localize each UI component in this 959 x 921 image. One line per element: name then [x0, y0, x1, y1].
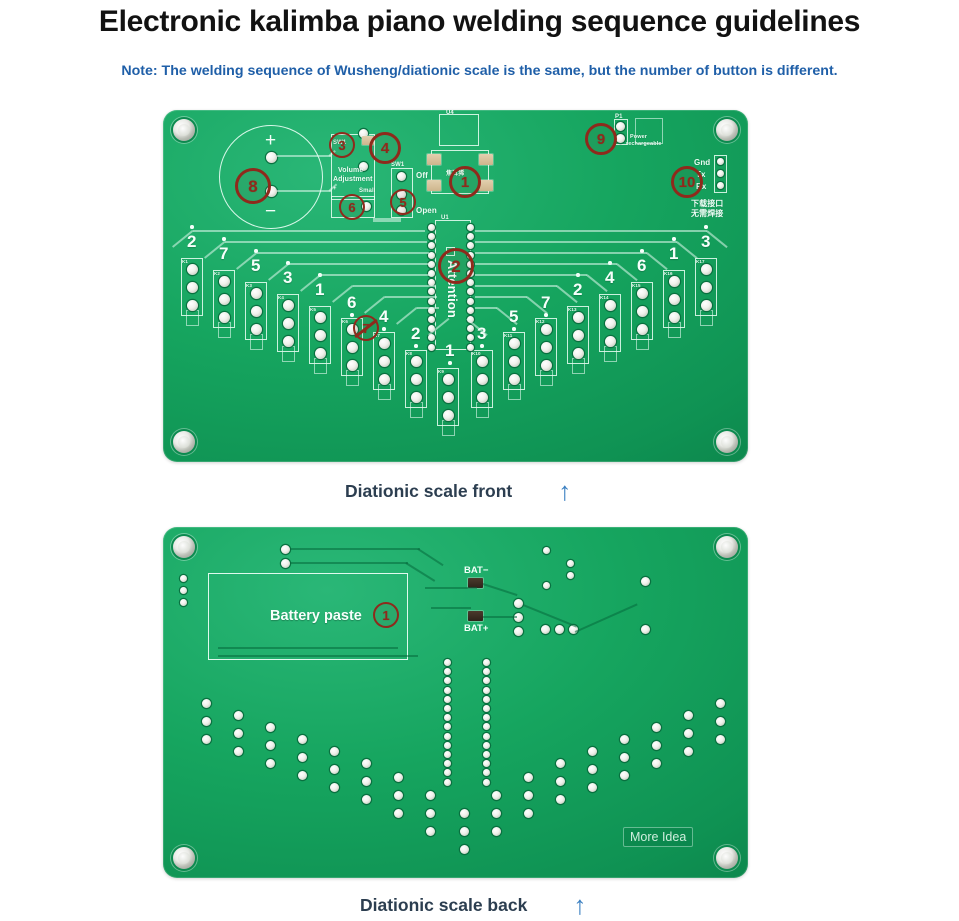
marker-7: 7 [353, 315, 379, 341]
key-pad-ref: K10 [472, 351, 481, 356]
back-mcu-pin-pad [444, 751, 451, 758]
signal-trace [475, 307, 497, 309]
signal-trace-jog [396, 307, 417, 325]
key-number-label: 4 [379, 308, 388, 325]
key-pad-hole [187, 300, 198, 311]
back-key-pad-hole [426, 791, 435, 800]
signal-trace [257, 252, 429, 254]
back-key-pad-hole [492, 791, 501, 800]
key-pad-hole [315, 348, 326, 359]
speaker-plus-sign: + [265, 131, 276, 150]
volume-small-label: Small [359, 188, 376, 194]
switch-open-label: Open [416, 206, 437, 215]
page-note: Note: The welding sequence of Wusheng/di… [0, 60, 959, 82]
signal-trace-jog [616, 263, 637, 281]
key-number-label: 3 [701, 233, 710, 250]
key-pad-tab [250, 334, 263, 350]
trace-speaker-neg [277, 190, 331, 192]
back-key-pad-hole [266, 759, 275, 768]
key-pad-ref: K12 [536, 319, 545, 324]
front-board-caption: Diationic scale front ↑ [345, 478, 571, 504]
back-mcu-pin-pad [483, 668, 490, 675]
key-pad-ref: K16 [664, 271, 673, 276]
key-pad-ref: K1 [182, 259, 188, 264]
back-pad-mid-3 [514, 627, 523, 636]
key-pad-hole [219, 294, 230, 305]
back-key-pad-hole [684, 747, 693, 756]
mounting-hole-top-right [716, 119, 738, 141]
key-pad-tab [572, 358, 585, 374]
key-pad-tab [410, 402, 423, 418]
back-key-pad-hole [620, 753, 629, 762]
mcu-pin-pad [467, 334, 474, 341]
back-key-pad-hole [460, 845, 469, 854]
mounting-hole-bottom-left [173, 431, 195, 453]
pcb-front-board: + − SW1 Volume Adjustment + Small SW1 Of… [163, 110, 748, 462]
uart-gnd-label: Gnd [694, 158, 710, 167]
back-mcu-pin-pad [444, 723, 451, 730]
key-octave-dot [382, 327, 386, 331]
key-pad-hole [411, 374, 422, 385]
bat-plus-label: BAT+ [464, 623, 488, 634]
back-key-pad-hole [588, 765, 597, 774]
back-mounting-hole-bottom-right [716, 847, 738, 869]
key-pad-ref: K17 [696, 259, 705, 264]
power-header-pad-2 [616, 134, 625, 143]
mcu-pin-pad [428, 298, 435, 305]
bat-minus-label: BAT− [464, 565, 488, 576]
back-mcu-pin-pad [444, 696, 451, 703]
mcu-pin-pad [467, 298, 474, 305]
key-number-label: 4 [605, 269, 614, 286]
back-mcu-pin-pad [444, 779, 451, 786]
back-key-pad-hole [330, 783, 339, 792]
back-key-pad-hole [426, 827, 435, 836]
key-number-label: 1 [445, 342, 454, 359]
back-key-pad-hole [588, 747, 597, 756]
key-pad-hole [283, 336, 294, 347]
back-pad-mid-7 [567, 572, 574, 579]
mcu-pin-pad [428, 224, 435, 231]
back-key-pad-hole [298, 771, 307, 780]
mcu-pin-pad [428, 288, 435, 295]
power-label-line2: rechargeable [626, 141, 661, 147]
back-pad-mid-4 [543, 547, 550, 554]
key-pad-tab [604, 346, 617, 362]
amp-pad-tl [427, 154, 441, 165]
signal-trace [321, 274, 433, 276]
key-pad-hole [541, 324, 552, 335]
power-label-line1: Power [630, 134, 647, 140]
key-pad-hole [283, 318, 294, 329]
back-mcu-pin-pad [483, 733, 490, 740]
marker-2: 2 [438, 248, 474, 284]
back-key-pad-hole [202, 717, 211, 726]
key-number-label: 2 [187, 233, 196, 250]
back-trace-long-2 [218, 655, 418, 657]
key-pad-hole [509, 338, 520, 349]
signal-trace [475, 241, 677, 243]
uart-pad-tx [717, 170, 724, 177]
key-number-label: 1 [315, 281, 324, 298]
key-pad-hole [411, 356, 422, 367]
key-octave-dot [480, 344, 484, 348]
key-pad-hole [251, 288, 262, 299]
key-pad-hole [315, 330, 326, 341]
key-octave-dot [350, 313, 354, 317]
back-pad-mid-5 [543, 582, 550, 589]
key-number-label: 6 [637, 257, 646, 274]
key-pad-ref: K6 [342, 319, 348, 324]
back-trace-bat-5 [523, 604, 577, 627]
back-key-pad-hole [266, 723, 275, 732]
back-key-pad-hole [394, 791, 403, 800]
back-key-pad-hole [266, 741, 275, 750]
key-pad-hole [573, 312, 584, 323]
marker-1: 1 [449, 166, 481, 198]
back-key-pad-hole [234, 747, 243, 756]
chip-top-outline [439, 114, 479, 146]
signal-trace [475, 296, 527, 298]
key-pad-hole [443, 392, 454, 403]
key-pad-tab [346, 370, 359, 386]
back-pad-top-1 [281, 545, 290, 554]
back-key-pad-hole [716, 699, 725, 708]
key-pad-tab [218, 322, 231, 338]
back-key-pad-hole [330, 747, 339, 756]
key-pad-hole [701, 300, 712, 311]
key-pad-tab [186, 310, 199, 326]
back-pad-mid-1 [514, 599, 523, 608]
back-pad-top-2 [281, 559, 290, 568]
marker-3: 3 [329, 132, 355, 158]
key-pad-hole [219, 276, 230, 287]
back-pad-mid-8 [541, 625, 550, 634]
key-octave-dot [190, 225, 194, 229]
back-key-pad-hole [298, 735, 307, 744]
back-mcu-pin-pad [444, 733, 451, 740]
key-pad-tab [442, 420, 455, 436]
key-pad-hole [283, 300, 294, 311]
marker-5: 5 [390, 189, 416, 215]
key-pad-hole [669, 312, 680, 323]
power-header-ref: P1 [615, 114, 623, 120]
amp-pad-bl [427, 180, 441, 191]
back-mcu-pin-pad [483, 751, 490, 758]
key-pad-hole [187, 264, 198, 275]
back-pad-right-2 [641, 625, 650, 634]
key-pad-hole [541, 360, 552, 371]
signal-trace [475, 285, 557, 287]
back-key-pad-hole [556, 795, 565, 804]
key-pad-tab [378, 384, 391, 400]
key-number-label: 5 [251, 257, 260, 274]
mcu-pin-pad [467, 224, 474, 231]
key-pad-hole [701, 282, 712, 293]
mcu-pin-pad [467, 233, 474, 240]
key-number-label: 6 [347, 294, 356, 311]
key-pad-hole [637, 324, 648, 335]
back-key-pad-hole [652, 759, 661, 768]
back-key-pad-hole [362, 795, 371, 804]
back-mcu-pin-pad [483, 760, 490, 767]
back-trace-bat-6 [575, 603, 638, 632]
marker-8: 8 [235, 168, 271, 204]
signal-trace [353, 285, 435, 287]
uart-pad-rx [717, 182, 724, 189]
back-mcu-pin-pad [483, 769, 490, 776]
back-key-pad-hole [394, 809, 403, 818]
key-pad-ref: K4 [278, 295, 284, 300]
back-mcu-pin-pad [444, 687, 451, 694]
marker-9: 9 [585, 123, 617, 155]
back-trace-top-1 [290, 548, 420, 550]
key-pad-hole [541, 342, 552, 353]
signal-trace [225, 241, 427, 243]
key-pad-ref: K5 [310, 307, 316, 312]
back-mcu-pin-pad [444, 742, 451, 749]
back-mcu-pin-pad [444, 760, 451, 767]
back-key-pad-hole [588, 783, 597, 792]
back-pad-left-2 [180, 587, 187, 594]
mcu-pin-pad [467, 288, 474, 295]
back-mcu-pin-pad [444, 677, 451, 684]
back-mcu-pin-pad [483, 659, 490, 666]
key-pad-ref: K8 [406, 351, 412, 356]
back-pad-mid-6 [567, 560, 574, 567]
mcu-pin-pad [467, 279, 474, 286]
volume-plus-label: + [333, 186, 337, 192]
key-pad-ref: K9 [438, 369, 444, 374]
key-pad-hole [637, 288, 648, 299]
back-mcu-pin-pad [483, 677, 490, 684]
key-pad-hole [605, 318, 616, 329]
pcb-back-board: Battery paste 1 BAT− BAT+ [163, 527, 748, 878]
power-switch-ref: SW1 [391, 162, 404, 168]
back-key-pad-hole [202, 699, 211, 708]
signal-trace-jog [646, 252, 667, 270]
amp-pad-br [479, 180, 493, 191]
back-key-pad-hole [492, 827, 501, 836]
back-key-pad-hole [652, 723, 661, 732]
mcu-pin-pad [467, 325, 474, 332]
signal-trace [417, 307, 439, 309]
up-arrow-icon-front: ↑ [558, 478, 571, 504]
back-key-pad-hole [556, 777, 565, 786]
key-pad-tab [476, 402, 489, 418]
front-caption-label: Diationic scale front [345, 481, 512, 502]
key-pad-hole [411, 392, 422, 403]
key-number-label: 1 [669, 245, 678, 262]
mcu-pin-pad [467, 344, 474, 351]
key-octave-dot [704, 225, 708, 229]
signal-trace [289, 263, 431, 265]
key-pad-hole [187, 282, 198, 293]
page-root: Electronic kalimba piano welding sequenc… [0, 0, 959, 921]
back-marker-1: 1 [373, 602, 399, 628]
more-idea-badge: More Idea [623, 827, 693, 847]
signal-trace [193, 230, 425, 232]
back-pad-mid-9 [555, 625, 564, 634]
mcu-pin-pad [428, 316, 435, 323]
key-pad-hole [573, 348, 584, 359]
key-number-label: 2 [411, 325, 420, 342]
signal-trace [385, 296, 437, 298]
back-mounting-hole-bottom-left [173, 847, 195, 869]
back-board-caption: Diationic scale back ↑ [360, 892, 586, 918]
bat-plus-pad [468, 611, 483, 621]
back-mcu-pin-pad [444, 659, 451, 666]
back-mcu-pin-pad [444, 668, 451, 675]
signal-trace [475, 252, 647, 254]
back-key-pad-hole [362, 759, 371, 768]
key-pad-tab [700, 310, 713, 326]
key-octave-dot [414, 344, 418, 348]
mcu-ref: U1 [441, 215, 449, 221]
switch-pad-1 [397, 172, 406, 181]
speaker-minus-sign: − [265, 202, 276, 221]
marker-10: 10 [671, 166, 703, 198]
key-pad-tab [636, 334, 649, 350]
amp-pad-tr [479, 154, 493, 165]
key-pad-tab [508, 384, 521, 400]
marker-6: 6 [339, 194, 365, 220]
signal-trace [475, 274, 587, 276]
back-key-pad-hole [620, 771, 629, 780]
back-key-pad-hole [492, 809, 501, 818]
key-pad-hole [669, 276, 680, 287]
back-mcu-pin-pad [483, 705, 490, 712]
back-trace-long-1 [218, 647, 398, 649]
back-mcu-pin-pad [483, 696, 490, 703]
back-mcu-pin-pad [483, 723, 490, 730]
mcu-pin-pad [467, 307, 474, 314]
back-trace-bat-3 [483, 583, 518, 596]
back-mcu-pin-pad [483, 742, 490, 749]
key-pad-hole [251, 324, 262, 335]
back-pad-left-1 [180, 575, 187, 582]
chip-top-ref: U4 [446, 110, 454, 116]
key-pad-tab [314, 358, 327, 374]
back-key-pad-hole [362, 777, 371, 786]
key-pad-hole [637, 306, 648, 317]
signal-trace [475, 230, 707, 232]
key-pad-tab [282, 346, 295, 362]
back-caption-label: Diationic scale back [360, 895, 527, 916]
back-key-pad-hole [684, 711, 693, 720]
back-trace-bat-1 [425, 587, 477, 589]
back-key-pad-hole [620, 735, 629, 744]
key-pad-hole [701, 264, 712, 275]
power-header-pad-1 [616, 122, 625, 131]
back-key-pad-hole [524, 791, 533, 800]
signal-trace-jog [676, 241, 697, 259]
key-pad-ref: K14 [600, 295, 609, 300]
back-key-pad-hole [460, 827, 469, 836]
key-pad-hole [477, 374, 488, 385]
key-number-label: 3 [283, 269, 292, 286]
key-pad-hole [509, 374, 520, 385]
back-key-pad-hole [460, 809, 469, 818]
back-key-pad-hole [684, 729, 693, 738]
key-pad-hole [443, 410, 454, 421]
trace-speaker-pos [277, 155, 331, 157]
signal-trace [475, 263, 617, 265]
key-pad-ref: K15 [632, 283, 641, 288]
volume-adjust-label-line2: Adjustment [333, 176, 373, 183]
back-key-pad-hole [202, 735, 211, 744]
trace-switch-down [373, 218, 401, 222]
back-trace-top-1b [418, 548, 444, 566]
back-key-pad-hole [426, 809, 435, 818]
switch-off-label: Off [416, 171, 428, 180]
key-pad-tab [668, 322, 681, 338]
mcu-pin-pad [428, 242, 435, 249]
key-pad-hole [605, 336, 616, 347]
back-key-pad-hole [716, 735, 725, 744]
key-octave-dot [512, 327, 516, 331]
key-pad-hole [251, 306, 262, 317]
back-key-pad-hole [234, 711, 243, 720]
key-pad-hole [605, 300, 616, 311]
mcu-pin-pad [467, 242, 474, 249]
back-trace-top-2b [406, 562, 436, 581]
back-key-pad-hole [556, 759, 565, 768]
battery-paste-label: Battery paste [270, 608, 362, 624]
volume-adjust-label-line1: Volume [338, 167, 363, 174]
marker-4: 4 [369, 132, 401, 164]
key-pad-hole [669, 294, 680, 305]
key-pad-hole [315, 312, 326, 323]
key-pad-tab [540, 370, 553, 386]
key-pad-ref: K11 [504, 333, 512, 338]
mounting-hole-bottom-right [716, 431, 738, 453]
back-key-pad-hole [652, 741, 661, 750]
up-arrow-icon-back: ↑ [573, 892, 586, 918]
back-mcu-pin-pad [444, 705, 451, 712]
back-mcu-pin-pad [483, 779, 490, 786]
back-key-pad-hole [716, 717, 725, 726]
back-trace-bat-2 [431, 607, 471, 609]
key-pad-hole [379, 374, 390, 385]
back-trace-bat-4 [483, 616, 517, 618]
back-key-pad-hole [330, 765, 339, 774]
mcu-pin-pad [428, 344, 435, 351]
back-mcu-pin-pad [483, 687, 490, 694]
key-pad-ref: K3 [246, 283, 252, 288]
back-key-pad-hole [234, 729, 243, 738]
key-number-label: 7 [219, 245, 228, 262]
back-pad-right-1 [641, 577, 650, 586]
page-title: Electronic kalimba piano welding sequenc… [0, 0, 959, 44]
uart-pad-gnd [717, 158, 724, 165]
key-pad-hole [477, 356, 488, 367]
key-pad-hole [379, 338, 390, 349]
speaker-pad-positive [266, 152, 277, 163]
key-pad-hole [477, 392, 488, 403]
key-pad-ref: K2 [214, 271, 220, 276]
back-mounting-hole-top-left [173, 536, 195, 558]
back-pad-left-3 [180, 599, 187, 606]
back-key-pad-hole [298, 753, 307, 762]
key-pad-ref: K13 [568, 307, 577, 312]
mcu-pin-pad [428, 233, 435, 240]
back-mounting-hole-top-right [716, 536, 738, 558]
key-pad-hole [219, 312, 230, 323]
mounting-hole-top-left [173, 119, 195, 141]
back-mcu-pin-pad [444, 769, 451, 776]
key-pad-hole [379, 356, 390, 367]
